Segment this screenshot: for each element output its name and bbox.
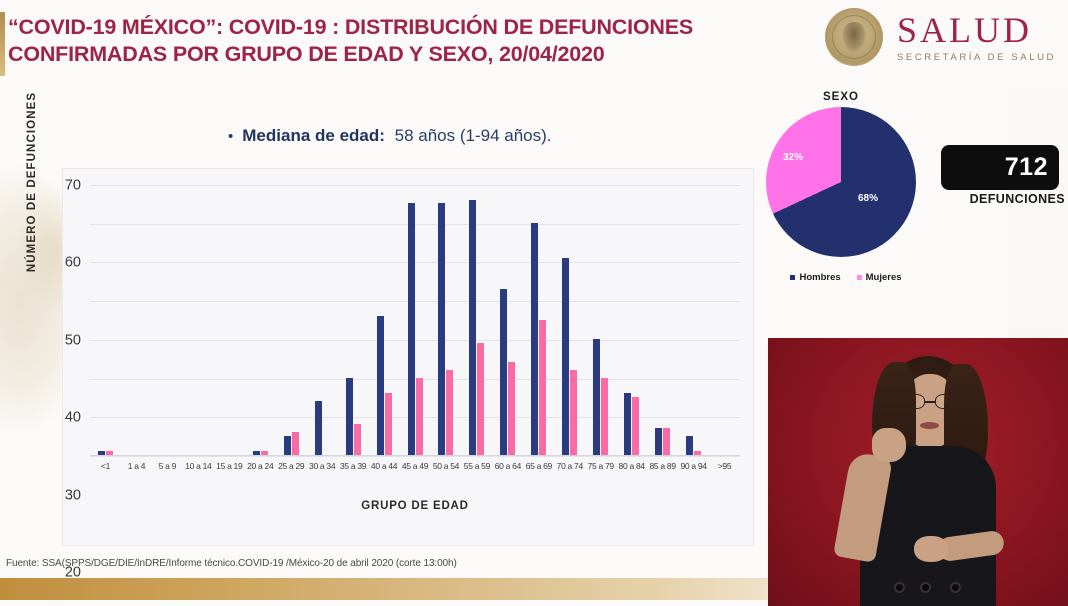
bar-mujeres-90a94 <box>694 451 701 455</box>
bar-group <box>400 184 431 455</box>
bar-group <box>307 184 338 455</box>
y-tick-label: 60 <box>65 255 81 271</box>
x-tick-label: 65 a 69 <box>523 461 554 471</box>
x-tick-label: 10 a 14 <box>183 461 214 471</box>
bar-hombres-80a84 <box>624 393 631 455</box>
bar-group <box>430 184 461 455</box>
y-tick-label: 70 <box>65 178 81 194</box>
page-title: “COVID-19 MÉXICO”: COVID-19 : DISTRIBUCI… <box>8 14 808 68</box>
pie-chart-title: SEXO <box>776 91 906 103</box>
x-tick-label: 1 a 4 <box>121 461 152 471</box>
salud-logo: SALUD SECRETARÍA DE SALUD <box>825 8 1056 66</box>
legend-item-mujeres: Mujeres <box>857 272 902 283</box>
bar-group <box>245 184 276 455</box>
bar-group <box>678 184 709 455</box>
bullet-marker-icon: • <box>228 129 233 144</box>
bar-chart-plot-area: 010203040506070 <box>90 184 740 456</box>
y-tick-label: 40 <box>65 410 81 426</box>
bar-group <box>276 184 307 455</box>
blouse-button-3 <box>950 582 961 593</box>
bar-hombres-60a64 <box>500 289 507 455</box>
bar-group <box>585 184 616 455</box>
bar-hombres-20a24 <box>253 451 260 455</box>
bar-mujeres-40a44 <box>385 393 392 455</box>
bullet-label: Mediana de edad: <box>242 126 385 145</box>
bar-hombres-70a74 <box>562 258 569 455</box>
y-tick-label: 50 <box>65 333 81 349</box>
deaths-counter-box: 712 <box>941 145 1059 190</box>
bar-mujeres-60a64 <box>508 362 515 455</box>
bar-group <box>90 184 121 455</box>
x-tick-label: 40 a 44 <box>369 461 400 471</box>
bar-group <box>554 184 585 455</box>
interpreter-lower-hand <box>914 536 948 562</box>
x-tick-label: 90 a 94 <box>678 461 709 471</box>
interpreter-signing-fist <box>872 428 906 462</box>
bar-hombres-90a94 <box>686 436 693 455</box>
interpreter-mouth <box>920 422 939 429</box>
median-age-bullet: • Mediana de edad: 58 años (1-94 años). <box>228 126 552 146</box>
pie-slice-label-hombres: 68% <box>858 193 878 204</box>
x-tick-label: 85 a 89 <box>647 461 678 471</box>
x-tick-label: 30 a 34 <box>307 461 338 471</box>
bar-mujeres-70a74 <box>570 370 577 455</box>
bar-hombres-30a34 <box>315 401 322 455</box>
bar-group <box>616 184 647 455</box>
x-tick-label: 45 a 49 <box>400 461 431 471</box>
logo-wordmark: SALUD <box>897 12 1056 48</box>
bar-group <box>214 184 245 455</box>
bar-group <box>523 184 554 455</box>
sign-language-interpreter-video[interactable] <box>768 338 1068 606</box>
bar-group <box>121 184 152 455</box>
bar-hombres-85a89 <box>655 428 662 455</box>
y-tick-label: 30 <box>65 487 81 503</box>
x-tick-label: >95 <box>709 461 740 471</box>
chart-x-axis-line <box>90 455 740 456</box>
bar-mujeres-45a49 <box>416 378 423 455</box>
bar-mujeres-50a54 <box>446 370 453 455</box>
bar-group <box>709 184 740 455</box>
x-tick-label: 50 a 54 <box>430 461 461 471</box>
blouse-button-1 <box>894 582 905 593</box>
footer-gold-bar <box>0 578 768 600</box>
bar-hombres-45a49 <box>408 203 415 455</box>
bar-mujeres-75a79 <box>601 378 608 455</box>
pie-chart-legend: Hombres Mujeres <box>766 272 926 283</box>
bar-group <box>492 184 523 455</box>
legend-item-hombres: Hombres <box>790 272 840 283</box>
bullet-text: Mediana de edad: 58 años (1-94 años). <box>242 126 551 146</box>
x-tick-label: 70 a 74 <box>554 461 585 471</box>
bar-group <box>338 184 369 455</box>
bar-mujeres-65a69 <box>539 320 546 456</box>
logo-subtitle: SECRETARÍA DE SALUD <box>897 53 1056 63</box>
x-tick-label: 25 a 29 <box>276 461 307 471</box>
bar-mujeres-<1 <box>106 451 113 455</box>
x-tick-label: 80 a 84 <box>616 461 647 471</box>
bar-hombres-35a39 <box>346 378 353 455</box>
x-tick-label: 75 a 79 <box>585 461 616 471</box>
bar-hombres-40a44 <box>377 316 384 455</box>
presentation-slide: “COVID-19 MÉXICO”: COVID-19 : DISTRIBUCI… <box>0 0 1068 606</box>
bar-mujeres-25a29 <box>292 432 299 455</box>
bar-group <box>369 184 400 455</box>
chart-y-axis-label: NÚMERO DE DEFUNCIONES <box>26 62 38 302</box>
bar-group <box>183 184 214 455</box>
x-tick-label: 15 a 19 <box>214 461 245 471</box>
bar-group <box>152 184 183 455</box>
glasses-bridge <box>925 401 935 403</box>
chart-x-axis-label: GRUPO DE EDAD <box>90 500 740 512</box>
deaths-count-label: DEFUNCIONES <box>941 192 1067 206</box>
blouse-button-2 <box>920 582 931 593</box>
x-tick-label: 60 a 64 <box>492 461 523 471</box>
bar-mujeres-85a89 <box>663 428 670 455</box>
title-accent-bar <box>0 12 5 76</box>
logo-text-block: SALUD SECRETARÍA DE SALUD <box>897 12 1056 63</box>
bar-hombres-50a54 <box>438 203 445 455</box>
bar-mujeres-35a39 <box>354 424 361 455</box>
gridline: 0 <box>90 456 740 457</box>
bar-group <box>461 184 492 455</box>
mexico-coat-of-arms-icon <box>825 8 883 66</box>
source-note: Fuente: SSA(SPPS/DGE/DIE/InDRE/Informe t… <box>6 558 457 569</box>
bar-hombres-55a59 <box>469 200 476 456</box>
x-tick-label: 35 a 39 <box>338 461 369 471</box>
pie-slice-label-mujeres: 32% <box>783 152 803 163</box>
bar-hombres-<1 <box>98 451 105 455</box>
bar-hombres-25a29 <box>284 436 291 455</box>
x-tick-label: 20 a 24 <box>245 461 276 471</box>
chart-bars <box>90 184 740 455</box>
x-tick-label: <1 <box>90 461 121 471</box>
legend-label-hombres: Hombres <box>799 272 840 283</box>
bar-hombres-65a69 <box>531 223 538 455</box>
bar-group <box>647 184 678 455</box>
chart-x-tick-labels: <11 a 45 a 910 a 1415 a 1920 a 2425 a 29… <box>90 461 740 471</box>
deaths-count-value: 712 <box>1005 153 1048 182</box>
sex-distribution-pie-chart <box>766 107 916 257</box>
bar-mujeres-20a24 <box>261 451 268 455</box>
bar-mujeres-80a84 <box>632 397 639 455</box>
legend-label-mujeres: Mujeres <box>866 272 902 283</box>
legend-swatch-hombres-icon <box>790 275 795 280</box>
bar-mujeres-55a59 <box>477 343 484 455</box>
bullet-value: 58 años (1-94 años). <box>395 126 552 145</box>
legend-swatch-mujeres-icon <box>857 275 862 280</box>
x-tick-label: 5 a 9 <box>152 461 183 471</box>
x-tick-label: 55 a 59 <box>461 461 492 471</box>
bar-hombres-75a79 <box>593 339 600 455</box>
